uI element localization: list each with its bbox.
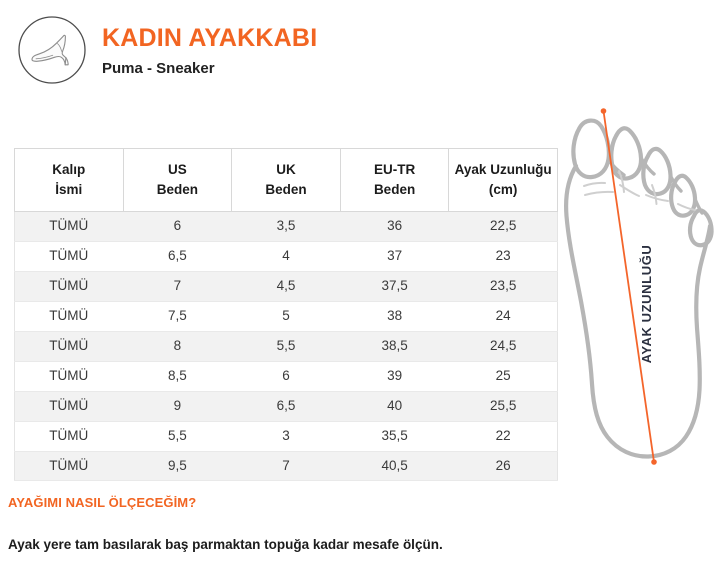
- column-header-kalip-ismi: Kalıp İsmi: [15, 149, 124, 212]
- cell-ayak-uzunlugu: 22,5: [449, 212, 558, 242]
- table-row: TÜMÜ9,5740,526: [15, 451, 558, 481]
- cell-kalip-ismi: TÜMÜ: [15, 301, 124, 331]
- cell-us-beden: 7,5: [123, 301, 232, 331]
- cell-kalip-ismi: TÜMÜ: [15, 451, 124, 481]
- cell-uk-beden: 3: [232, 421, 341, 451]
- cell-kalip-ismi: TÜMÜ: [15, 391, 124, 421]
- column-header-eu-tr-beden: EU-TR Beden: [340, 149, 449, 212]
- cell-eu-tr-beden: 35,5: [340, 421, 449, 451]
- cell-ayak-uzunlugu: 25,5: [449, 391, 558, 421]
- cell-us-beden: 8,5: [123, 361, 232, 391]
- cell-uk-beden: 4: [232, 242, 341, 272]
- cell-uk-beden: 5: [232, 301, 341, 331]
- cell-us-beden: 6: [123, 212, 232, 242]
- instructions-heading: AYAĞIMI NASIL ÖLÇECEĞİM?: [8, 495, 568, 510]
- cell-kalip-ismi: TÜMÜ: [15, 271, 124, 301]
- column-header-line2: (cm): [453, 180, 553, 200]
- cell-uk-beden: 4,5: [232, 271, 341, 301]
- high-heel-shoe-icon: [16, 14, 88, 86]
- foot-sole-measurement-diagram: AYAK UZUNLUĞU: [560, 92, 727, 477]
- cell-kalip-ismi: TÜMÜ: [15, 242, 124, 272]
- table-row: TÜMÜ63,53622,5: [15, 212, 558, 242]
- table-body: TÜMÜ63,53622,5TÜMÜ6,543723TÜMÜ74,537,523…: [15, 212, 558, 481]
- cell-eu-tr-beden: 40,5: [340, 451, 449, 481]
- measuring-instructions: AYAĞIMI NASIL ÖLÇECEĞİM? Ayak yere tam b…: [8, 495, 568, 555]
- column-header-line2: Beden: [236, 180, 336, 200]
- measurement-label: AYAK UZUNLUĞU: [639, 245, 654, 364]
- column-header-line2: İsmi: [19, 180, 119, 200]
- column-header-line1: UK: [276, 162, 296, 177]
- cell-uk-beden: 6,5: [232, 391, 341, 421]
- table-header: Kalıp İsmi US Beden UK Beden EU-TR Beden…: [15, 149, 558, 212]
- cell-kalip-ismi: TÜMÜ: [15, 421, 124, 451]
- cell-us-beden: 9: [123, 391, 232, 421]
- cell-ayak-uzunlugu: 24: [449, 301, 558, 331]
- cell-uk-beden: 5,5: [232, 331, 341, 361]
- cell-eu-tr-beden: 36: [340, 212, 449, 242]
- cell-uk-beden: 3,5: [232, 212, 341, 242]
- size-chart-table-container: Kalıp İsmi US Beden UK Beden EU-TR Beden…: [14, 148, 558, 481]
- cell-ayak-uzunlugu: 23,5: [449, 271, 558, 301]
- table-header-row: Kalıp İsmi US Beden UK Beden EU-TR Beden…: [15, 149, 558, 212]
- cell-eu-tr-beden: 40: [340, 391, 449, 421]
- cell-eu-tr-beden: 37: [340, 242, 449, 272]
- table-row: TÜMÜ74,537,523,5: [15, 271, 558, 301]
- cell-ayak-uzunlugu: 23: [449, 242, 558, 272]
- cell-ayak-uzunlugu: 24,5: [449, 331, 558, 361]
- table-row: TÜMÜ8,563925: [15, 361, 558, 391]
- column-header-ayak-uzunlugu: Ayak Uzunluğu (cm): [449, 149, 558, 212]
- cell-ayak-uzunlugu: 22: [449, 421, 558, 451]
- cell-uk-beden: 6: [232, 361, 341, 391]
- column-header-line1: Ayak Uzunluğu: [455, 162, 552, 177]
- cell-us-beden: 9,5: [123, 451, 232, 481]
- cell-eu-tr-beden: 39: [340, 361, 449, 391]
- cell-kalip-ismi: TÜMÜ: [15, 361, 124, 391]
- table-row: TÜMÜ7,553824: [15, 301, 558, 331]
- column-header-line1: Kalıp: [52, 162, 85, 177]
- cell-us-beden: 6,5: [123, 242, 232, 272]
- cell-us-beden: 5,5: [123, 421, 232, 451]
- column-header-line2: Beden: [345, 180, 445, 200]
- table-row: TÜMÜ85,538,524,5: [15, 331, 558, 361]
- table-row: TÜMÜ6,543723: [15, 242, 558, 272]
- table-row: TÜMÜ96,54025,5: [15, 391, 558, 421]
- size-chart-table: Kalıp İsmi US Beden UK Beden EU-TR Beden…: [14, 148, 558, 481]
- cell-kalip-ismi: TÜMÜ: [15, 212, 124, 242]
- cell-uk-beden: 7: [232, 451, 341, 481]
- column-header-line2: Beden: [128, 180, 228, 200]
- cell-ayak-uzunlugu: 25: [449, 361, 558, 391]
- cell-eu-tr-beden: 37,5: [340, 271, 449, 301]
- cell-us-beden: 8: [123, 331, 232, 361]
- header-text-block: KADIN AYAKKABI Puma - Sneaker: [102, 22, 317, 78]
- column-header-uk-beden: UK Beden: [232, 149, 341, 212]
- page-subtitle: Puma - Sneaker: [102, 60, 317, 78]
- cell-kalip-ismi: TÜMÜ: [15, 331, 124, 361]
- measurement-endpoint-top: [601, 108, 607, 114]
- page-header: KADIN AYAKKABI Puma - Sneaker: [0, 0, 560, 100]
- column-header-line1: EU-TR: [374, 162, 415, 177]
- column-header-us-beden: US Beden: [123, 149, 232, 212]
- table-row: TÜMÜ5,5335,522: [15, 421, 558, 451]
- instructions-body: Ayak yere tam basılarak baş parmaktan to…: [8, 536, 568, 555]
- cell-eu-tr-beden: 38,5: [340, 331, 449, 361]
- cell-eu-tr-beden: 38: [340, 301, 449, 331]
- cell-ayak-uzunlugu: 26: [449, 451, 558, 481]
- measurement-endpoint-bottom: [651, 459, 657, 465]
- cell-us-beden: 7: [123, 271, 232, 301]
- column-header-line1: US: [168, 162, 187, 177]
- page-title: KADIN AYAKKABI: [102, 24, 317, 53]
